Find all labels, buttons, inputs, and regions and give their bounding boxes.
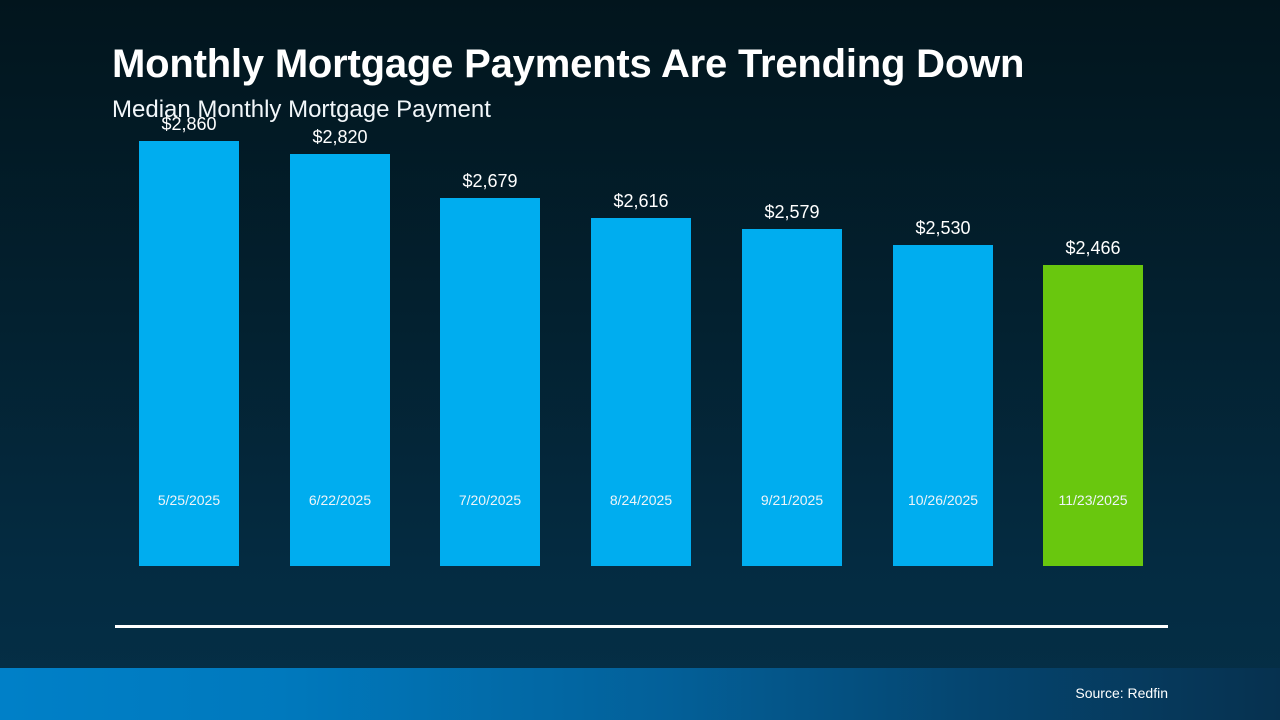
bar-value-label: $2,530 xyxy=(867,218,1019,239)
x-axis-tick-label: 11/23/2025 xyxy=(1017,492,1169,508)
x-axis-tick-label: 7/20/2025 xyxy=(414,492,566,508)
bar-value-label: $2,466 xyxy=(1017,238,1169,259)
bar-value-label: $2,860 xyxy=(113,114,265,135)
source-attribution: Source: Redfin xyxy=(1075,685,1168,701)
bar-chart-plot-area: $2,8605/25/2025$2,8206/22/2025$2,6797/20… xyxy=(0,0,1280,660)
chart-slide: Monthly Mortgage Payments Are Trending D… xyxy=(0,0,1280,720)
bar[interactable] xyxy=(893,245,993,566)
bar[interactable] xyxy=(742,229,842,566)
bar[interactable] xyxy=(440,198,540,566)
x-axis-tick-label: 10/26/2025 xyxy=(867,492,1019,508)
x-axis-tick-label: 8/24/2025 xyxy=(565,492,717,508)
x-axis-tick-label: 6/22/2025 xyxy=(264,492,416,508)
bar-value-label: $2,820 xyxy=(264,127,416,148)
bar-value-label: $2,616 xyxy=(565,191,717,212)
x-axis-line xyxy=(115,625,1168,628)
bar[interactable] xyxy=(591,218,691,566)
bar-value-label: $2,679 xyxy=(414,171,566,192)
bar-value-label: $2,579 xyxy=(716,202,868,223)
x-axis-tick-label: 5/25/2025 xyxy=(113,492,265,508)
x-axis-tick-label: 9/21/2025 xyxy=(716,492,868,508)
footer-bar: Source: Redfin xyxy=(0,668,1280,720)
bar[interactable] xyxy=(1043,265,1143,566)
